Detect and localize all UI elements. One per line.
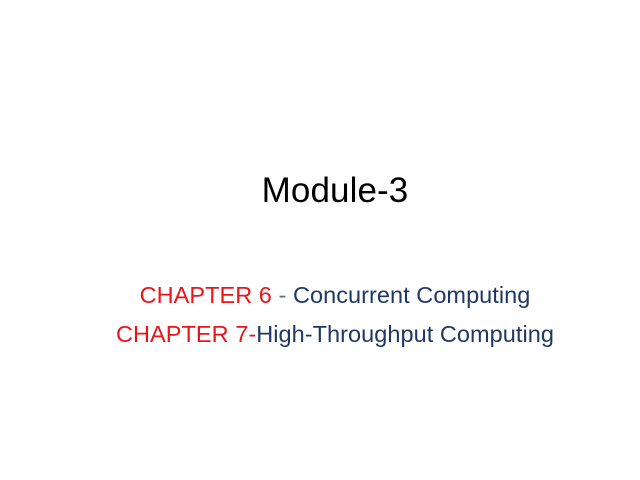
- subtitle-line-chapter-6: CHAPTER 6 - Concurrent Computing: [48, 276, 622, 315]
- chapter-topic-6: Concurrent Computing: [293, 282, 530, 308]
- chapter-separator-6: -: [272, 282, 293, 308]
- chapter-topic-7: High-Throughput Computing: [256, 321, 554, 347]
- title-placeholder: Module-3: [48, 170, 622, 212]
- subtitle-line-chapter-7: CHAPTER 7-High-Throughput Computing: [48, 315, 622, 354]
- chapter-label-7: CHAPTER 7-: [116, 321, 256, 347]
- subtitle-placeholder: CHAPTER 6 - Concurrent Computing CHAPTER…: [48, 276, 622, 354]
- chapter-label-6: CHAPTER 6: [140, 282, 272, 308]
- presentation-slide: Module-3 CHAPTER 6 - Concurrent Computin…: [0, 0, 640, 480]
- page-title: Module-3: [48, 170, 622, 212]
